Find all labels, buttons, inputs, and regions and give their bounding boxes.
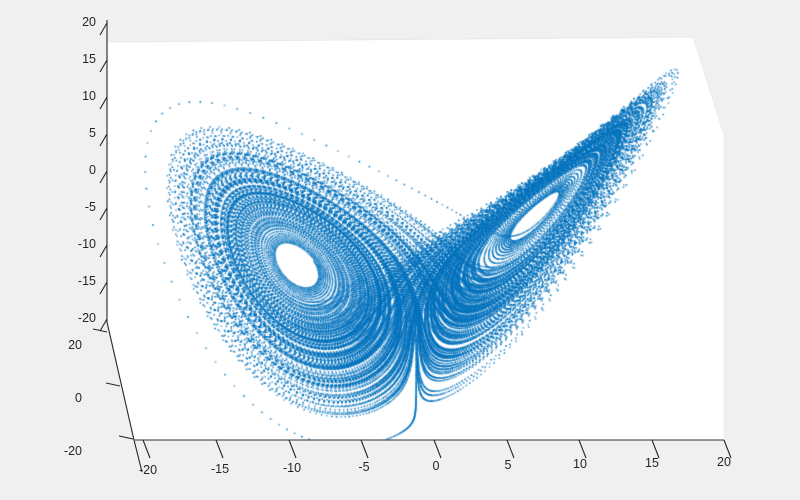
- x-axis-tick-label: 20: [699, 456, 749, 469]
- z-axis-tick-label: -5: [56, 201, 96, 214]
- x-axis-tick-label: 15: [627, 457, 677, 470]
- x-axis-tick-label: 10: [555, 458, 605, 471]
- x-axis-tick-label: -20: [123, 464, 173, 477]
- z-axis-tick-label: -20: [56, 312, 96, 325]
- x-axis-tick-label: -10: [267, 462, 317, 475]
- x-axis-tick-label: 0: [411, 460, 461, 473]
- z-axis-tick-label: 10: [56, 90, 96, 103]
- z-axis-tick-label: 15: [56, 53, 96, 66]
- y-axis-tick-label: 0: [42, 392, 82, 405]
- y-axis-tick-label: 20: [42, 339, 82, 352]
- z-axis-tick-label: -15: [56, 275, 96, 288]
- z-axis-tick-label: 20: [56, 16, 96, 29]
- z-axis-tick-label: -10: [56, 238, 96, 251]
- x-axis-tick-label: 5: [483, 459, 533, 472]
- z-axis-tick-label: 5: [56, 127, 96, 140]
- x-axis-tick-label: -15: [195, 463, 245, 476]
- x-axis-tick-label: -5: [339, 461, 389, 474]
- y-axis-tick-label: -20: [42, 445, 82, 458]
- z-axis-tick-label: 0: [56, 164, 96, 177]
- scatter-plot-canvas: [0, 0, 800, 500]
- matlab-figure-window: 20151050-5-10-15-20200-20-20-15-10-50510…: [0, 0, 800, 500]
